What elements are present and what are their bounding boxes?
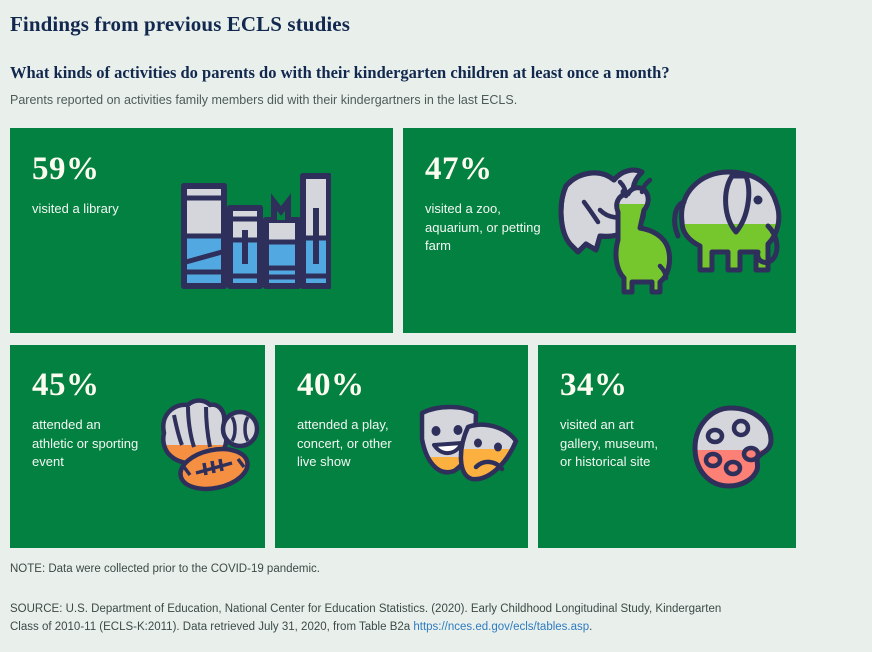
stat-card-row-2: 45% attended an athletic or sporting eve…	[10, 345, 862, 548]
stat-card-text: 47% visited a zoo, aquarium, or petting …	[403, 128, 555, 255]
note-text: NOTE: Data were collected prior to the C…	[10, 562, 862, 578]
stat-label: visited a zoo, aquarium, or petting farm	[425, 200, 555, 255]
page-title: Findings from previous ECLS studies	[10, 12, 862, 37]
stat-value: 40%	[297, 369, 409, 402]
source-text-after: .	[589, 621, 592, 633]
source-text-before: SOURCE: U.S. Department of Education, Na…	[10, 603, 721, 633]
stat-card-art: 34% visited an art gallery, museum, or h…	[538, 345, 796, 548]
stat-card-row-1: 59% visited a library	[10, 128, 862, 333]
palette-icon	[672, 345, 796, 548]
stat-card-text: 40% attended a play, concert, or other l…	[275, 345, 409, 471]
stat-label: attended a play, concert, or other live …	[297, 416, 409, 471]
stat-label: visited an art gallery, museum, or histo…	[560, 416, 672, 471]
stat-card-text: 45% attended an athletic or sporting eve…	[10, 345, 144, 471]
infographic-page: Findings from previous ECLS studies What…	[0, 0, 872, 652]
stat-value: 34%	[560, 369, 672, 402]
animals-icon	[551, 128, 796, 333]
stat-card-library: 59% visited a library	[10, 128, 393, 333]
theater-masks-icon	[409, 345, 528, 548]
source-text: SOURCE: U.S. Department of Education, Na…	[10, 600, 750, 637]
stat-card-text: 34% visited an art gallery, museum, or h…	[538, 345, 672, 471]
stat-label: visited a library	[32, 200, 119, 218]
sports-icon	[144, 345, 265, 548]
books-icon	[115, 128, 393, 333]
stat-card-zoo: 47% visited a zoo, aquarium, or petting …	[403, 128, 796, 333]
stat-value: 47%	[425, 153, 555, 186]
stat-value: 59%	[32, 153, 119, 186]
stat-card-theater: 40% attended a play, concert, or other l…	[275, 345, 528, 548]
chart-subnote: Parents reported on activities family me…	[10, 92, 862, 108]
footer-notes: NOTE: Data were collected prior to the C…	[10, 548, 862, 636]
header: Findings from previous ECLS studies What…	[10, 0, 862, 108]
stat-value: 45%	[32, 369, 144, 402]
stat-label: attended an athletic or sporting event	[32, 416, 144, 471]
stat-card-sports: 45% attended an athletic or sporting eve…	[10, 345, 265, 548]
chart-question-heading: What kinds of activities do parents do w…	[10, 63, 862, 84]
source-link[interactable]: https://nces.ed.gov/ecls/tables.asp	[413, 621, 589, 633]
stat-card-text: 59% visited a library	[10, 128, 119, 218]
